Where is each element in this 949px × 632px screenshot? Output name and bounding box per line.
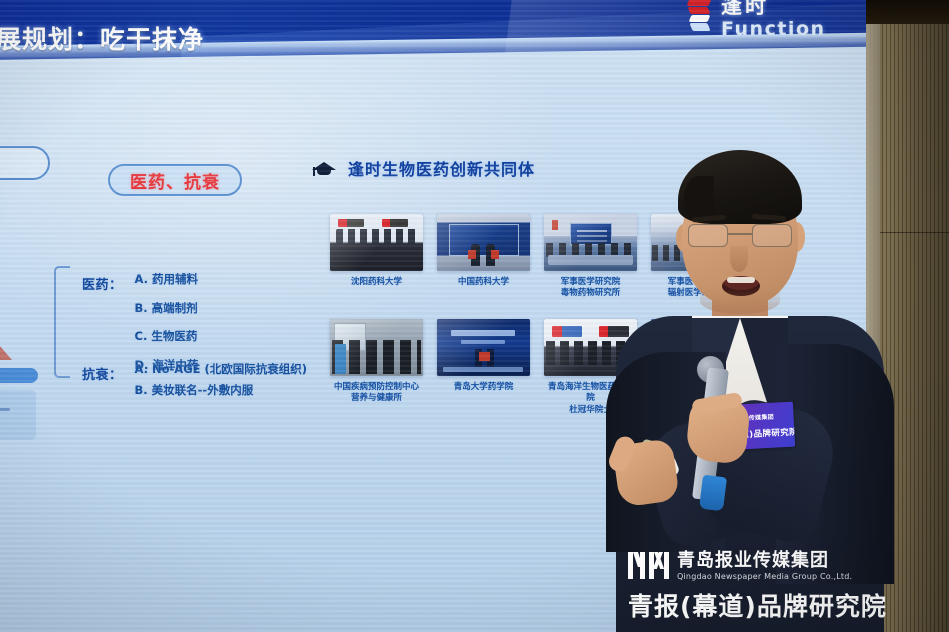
photo-caption: 中国药科大学 [437,277,530,288]
consortium-heading: 逢时生物医药创新共同体 [312,156,535,180]
eyeglasses-icon [688,224,792,248]
brand-name-cn: 逢时 [721,0,826,17]
list-item: B. 高端制剂 [135,303,199,315]
partner-thumbnail [437,319,530,376]
list-item: A. 药用辅料 [135,274,199,286]
photo-caption: 青岛大学药学院 [437,382,530,393]
brand-name-en: Function [721,20,826,39]
group-antiaging: 抗衰： A. No-AGE (北欧国际抗衰组织) B. 美妆联名--外敷内服 [82,364,307,405]
watermark-group-cn: 青岛报业传媒集团 [677,552,852,570]
left-panel-pill [0,146,50,180]
watermark-group-en: Qingdao Newspaper Media Group Co.,Ltd. [677,573,852,581]
nm-logo-icon [628,552,668,579]
graduation-cap-icon [312,159,336,177]
brand-logo: 逢时 Function [686,0,826,39]
photo-cell: 沈阳药科大学 [330,214,423,300]
list-item: B. 美妆联名--外敷内服 [135,385,308,397]
wall-dark-top [866,0,949,24]
pyramid-graphic-icon [0,330,12,360]
photo-cell: 中国药科大学 [437,214,530,300]
photo-cell: 中国疾病预防控制中心营养与健康所 [330,319,423,416]
section-pill-label: 医药、抗衰 [130,168,220,193]
logo-mark-icon [686,0,712,38]
list-bracket [54,266,70,378]
watermark: 青岛报业传媒集团 Qingdao Newspaper Media Group C… [628,552,938,623]
left-panel-box [0,390,36,440]
watermark-institute: 青报(幕道)品牌研究院 [628,587,938,623]
slide-title: 展规划：吃干抹净 [0,20,204,56]
partner-thumbnail [330,319,423,376]
hair [678,150,802,224]
group-antiaging-items: A. No-AGE (北欧国际抗衰组织) B. 美妆联名--外敷内服 [135,364,308,405]
list-item: C. 生物医药 [135,331,199,343]
partner-thumbnail [330,214,423,271]
photo-cell: 青岛大学药学院 [437,319,530,416]
left-panel-bar [0,368,38,383]
category-list: 医药： A. 药用辅料 B. 高端制剂 C. 生物医药 D. 海洋中药 抗衰： … [54,252,304,392]
list-item: A. No-AGE (北欧国际抗衰组织) [135,364,308,376]
photo-caption: 沈阳药科大学 [330,277,423,288]
photo-stage: 展规划：吃干抹净 逢时 Function 医药、抗衰 [0,0,949,632]
partner-thumbnail [437,214,530,271]
consortium-heading-label: 逢时生物医药创新共同体 [348,156,535,180]
section-pill-medicine-antiaging: 医药、抗衰 [108,164,242,196]
photo-caption: 中国疾病预防控制中心营养与健康所 [330,382,423,405]
group-antiaging-label: 抗衰： [82,364,123,405]
microphone-base [699,475,727,512]
